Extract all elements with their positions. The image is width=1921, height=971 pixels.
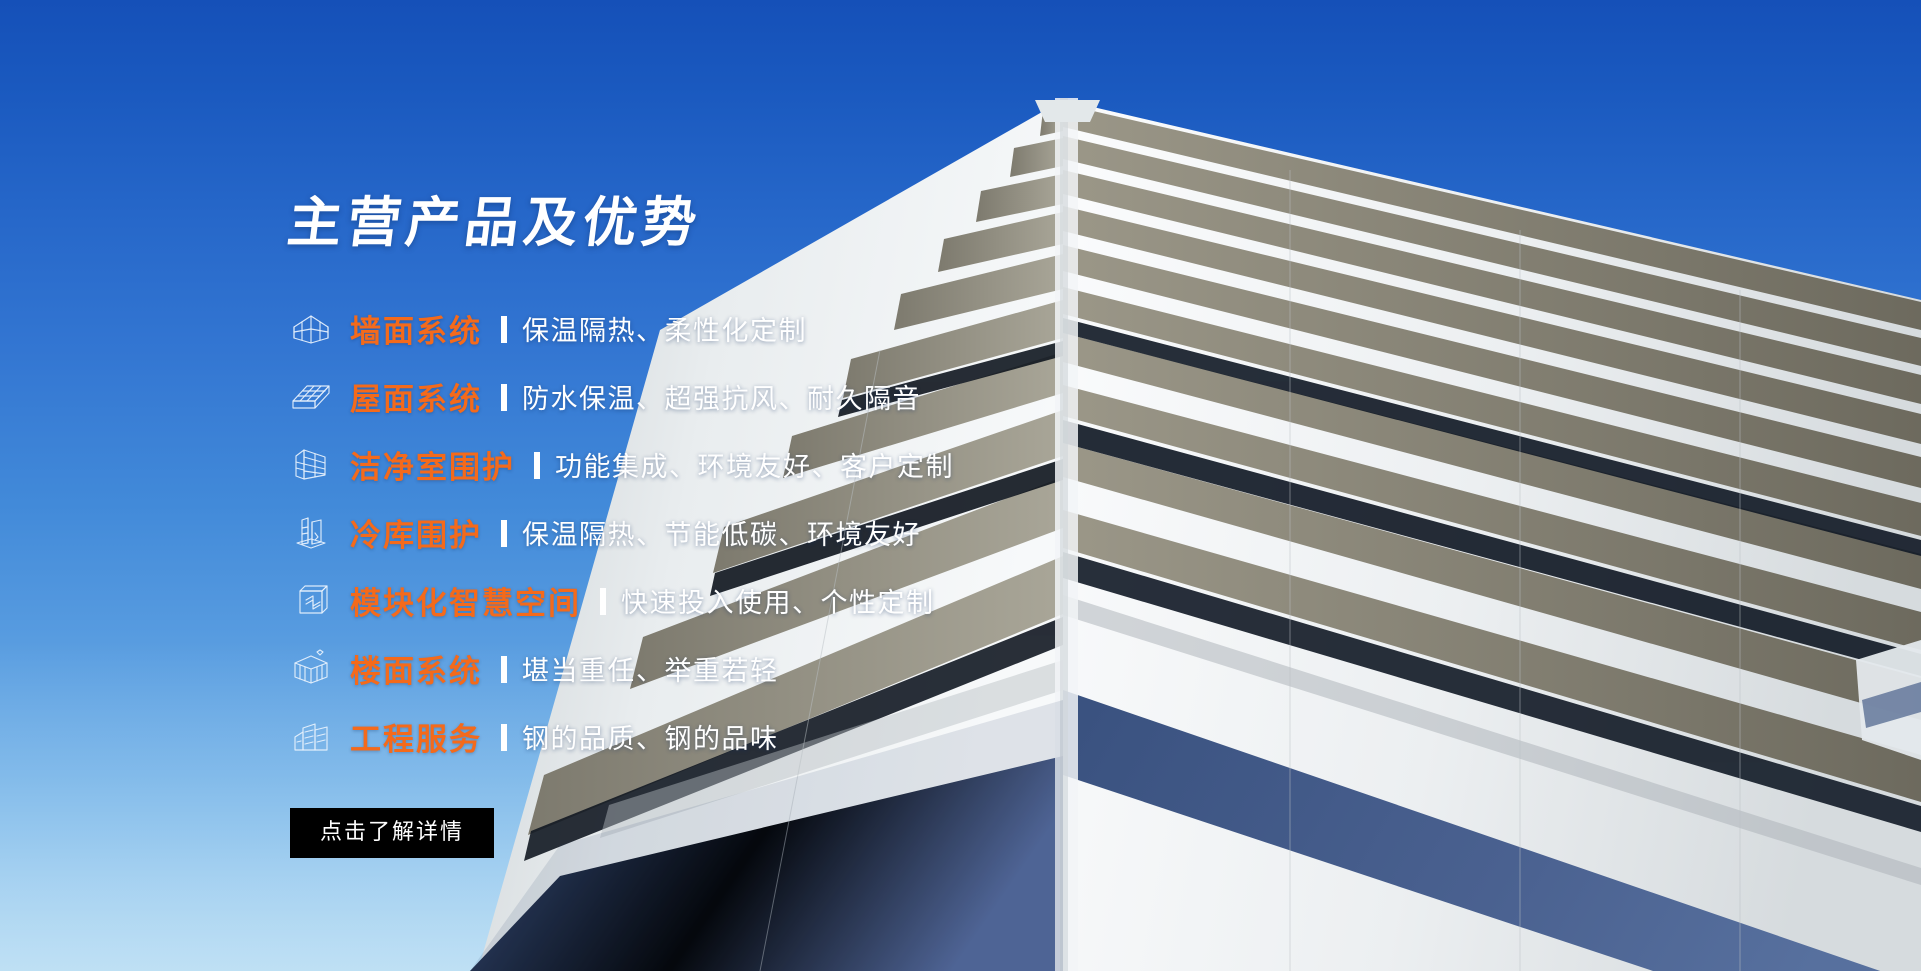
cleanroom-building-icon bbox=[288, 443, 334, 485]
feature-row[interactable]: 模块化智慧空间 快速投入使用、个性定制 bbox=[288, 566, 1288, 634]
feature-separator bbox=[501, 520, 507, 547]
wall-panel-icon bbox=[288, 307, 334, 349]
feature-title: 冷库围护 bbox=[350, 510, 482, 555]
feature-row[interactable]: 楼面系统 堪当重任、举重若轻 bbox=[288, 634, 1288, 702]
feature-separator bbox=[600, 588, 606, 615]
page-title: 主营产品及优势 bbox=[285, 196, 1292, 250]
feature-separator bbox=[501, 656, 507, 683]
feature-row[interactable]: 屋面系统 防水保温、超强抗风、耐久隔音 bbox=[288, 362, 1288, 430]
learn-more-button[interactable]: 点击了解详情 bbox=[290, 808, 494, 858]
modular-cube-icon bbox=[288, 579, 334, 621]
feature-separator bbox=[501, 384, 507, 411]
banner-content: 主营产品及优势 墙面系统 bbox=[288, 196, 1288, 858]
feature-row[interactable]: 冷库围护 保温隔热、节能低碳、环境友好 bbox=[288, 498, 1288, 566]
feature-row[interactable]: 洁净室围护 功能集成、环境友好、客户定制 bbox=[288, 430, 1288, 498]
feature-description: 快速投入使用、个性定制 bbox=[621, 581, 935, 620]
cold-storage-icon bbox=[288, 511, 334, 553]
feature-title: 屋面系统 bbox=[350, 374, 482, 419]
feature-title: 模块化智慧空间 bbox=[350, 578, 581, 623]
roof-panel-icon bbox=[288, 375, 334, 417]
feature-description: 功能集成、环境友好、客户定制 bbox=[555, 445, 954, 484]
feature-title: 洁净室围护 bbox=[350, 442, 515, 487]
feature-separator bbox=[534, 452, 540, 479]
feature-row[interactable]: 工程服务 钢的品质、钢的品味 bbox=[288, 702, 1288, 770]
floor-deck-icon bbox=[288, 647, 334, 689]
feature-description: 防水保温、超强抗风、耐久隔音 bbox=[522, 377, 921, 416]
feature-title: 墙面系统 bbox=[350, 306, 482, 351]
feature-description: 保温隔热、节能低碳、环境友好 bbox=[522, 513, 921, 552]
feature-row[interactable]: 墙面系统 保温隔热、柔性化定制 bbox=[288, 294, 1288, 362]
engineering-service-icon bbox=[288, 715, 334, 757]
banner-stage: 主营产品及优势 墙面系统 bbox=[0, 0, 1921, 971]
feature-title: 楼面系统 bbox=[350, 646, 482, 691]
feature-description: 保温隔热、柔性化定制 bbox=[522, 309, 807, 348]
feature-separator bbox=[501, 316, 507, 343]
feature-separator bbox=[501, 724, 507, 751]
feature-description: 钢的品质、钢的品味 bbox=[522, 717, 779, 756]
feature-title: 工程服务 bbox=[350, 714, 482, 759]
feature-description: 堪当重任、举重若轻 bbox=[522, 649, 779, 688]
feature-list: 墙面系统 保温隔热、柔性化定制 屋面系统 bbox=[288, 294, 1288, 770]
